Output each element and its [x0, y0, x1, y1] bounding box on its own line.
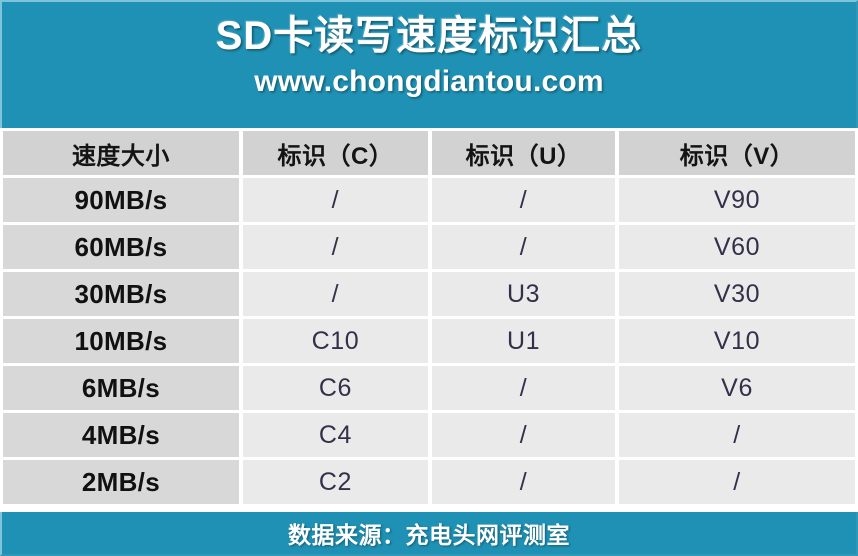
cell-class-v: V90	[619, 178, 855, 222]
cell-class-u: /	[432, 413, 615, 457]
cell-class-u: /	[432, 460, 615, 504]
page-title: SD卡读写速度标识汇总	[216, 13, 643, 59]
table-row: 10MB/s C10 U1 V10	[3, 319, 855, 363]
cell-class-u: /	[432, 366, 615, 410]
table-row: 30MB/s / U3 V30	[3, 272, 855, 316]
table-row: 60MB/s / / V60	[3, 225, 855, 269]
cell-class-u: /	[432, 225, 615, 269]
column-header-class-c: 标识（C）	[243, 131, 428, 175]
cell-speed: 4MB/s	[3, 413, 239, 457]
cell-class-c: /	[243, 178, 428, 222]
cell-class-v: /	[619, 413, 855, 457]
cell-class-c: C10	[243, 319, 428, 363]
cell-class-u: /	[432, 178, 615, 222]
column-header-class-u: 标识（U）	[432, 131, 615, 175]
table-header-row: 速度大小 标识（C） 标识（U） 标识（V）	[3, 131, 855, 175]
cell-speed: 6MB/s	[3, 366, 239, 410]
cell-class-u: U3	[432, 272, 615, 316]
cell-speed: 90MB/s	[3, 178, 239, 222]
footer-banner: 数据来源：充电头网评测室	[0, 512, 858, 556]
cell-class-v: V30	[619, 272, 855, 316]
cell-class-v: V6	[619, 366, 855, 410]
table-row: 2MB/s C2 / /	[3, 460, 855, 504]
cell-speed: 30MB/s	[3, 272, 239, 316]
column-header-speed: 速度大小	[3, 131, 239, 175]
cell-class-v: V10	[619, 319, 855, 363]
cell-class-c: C2	[243, 460, 428, 504]
table-row: 6MB/s C6 / V6	[3, 366, 855, 410]
cell-class-c: /	[243, 272, 428, 316]
speed-class-table: 速度大小 标识（C） 标识（U） 标识（V） 90MB/s / / V90 60…	[0, 128, 858, 510]
table-row: 90MB/s / / V90	[3, 178, 855, 222]
cell-class-c: C4	[243, 413, 428, 457]
cell-class-v: /	[619, 460, 855, 504]
column-header-class-v: 标识（V）	[619, 131, 855, 175]
sd-card-speed-table-infographic: SD卡读写速度标识汇总 www.chongdiantou.com 速度大小 标识…	[0, 0, 858, 556]
cell-class-v: V60	[619, 225, 855, 269]
table-row: 4MB/s C4 / /	[3, 413, 855, 457]
cell-speed: 2MB/s	[3, 460, 239, 504]
cell-class-c: C6	[243, 366, 428, 410]
cell-speed: 60MB/s	[3, 225, 239, 269]
cell-class-c: /	[243, 225, 428, 269]
cell-class-u: U1	[432, 319, 615, 363]
source-website-url: www.chongdiantou.com	[254, 65, 604, 99]
cell-speed: 10MB/s	[3, 319, 239, 363]
data-source-label: 数据来源：充电头网评测室	[288, 516, 570, 550]
header-banner: SD卡读写速度标识汇总 www.chongdiantou.com	[0, 0, 858, 128]
